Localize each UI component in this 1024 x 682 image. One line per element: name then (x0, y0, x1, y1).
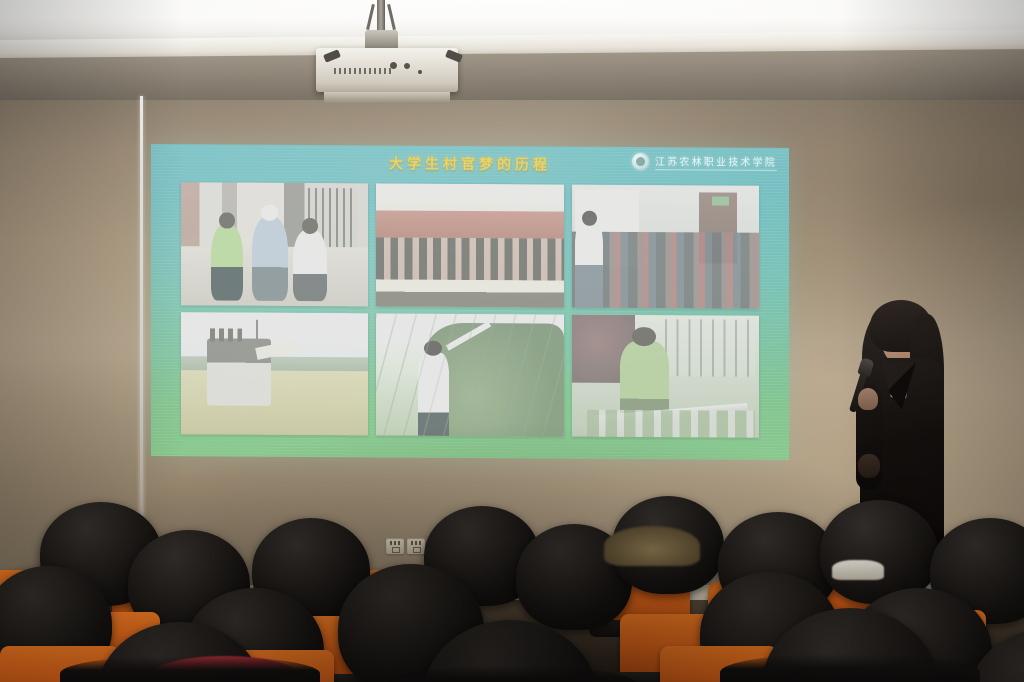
slide-photo-6 (572, 314, 759, 438)
projector-mount-brace (366, 4, 396, 26)
lecture-hall-scene: 大学生村官梦的历程 江苏农林职业技术学院 (0, 0, 1024, 682)
screen-edge-cable (140, 96, 143, 520)
slide-photo-2 (376, 183, 563, 307)
photo4-projection-tint (181, 312, 368, 436)
slide-photo-5 (376, 313, 563, 437)
audience-white-collar (832, 560, 884, 580)
projector-vent-icon (334, 68, 394, 74)
slide-photo-3 (572, 185, 759, 309)
audience-shoulders (720, 654, 980, 682)
university-seal-icon (632, 153, 649, 170)
slide-photo-grid (181, 182, 759, 438)
slide-photo-1 (181, 182, 368, 306)
slide-logo-text: 江苏农林职业技术学院 (655, 153, 777, 171)
audience-fur-hood (604, 526, 700, 566)
speaker-hand-upper (858, 388, 878, 410)
photo3-projection-tint (572, 185, 759, 309)
slide-institution-logo: 江苏农林职业技术学院 (632, 153, 777, 171)
photo2-projection-tint (376, 183, 563, 307)
slide-photo-4 (181, 312, 368, 436)
projector-button-icon (418, 70, 422, 74)
seated-audience (0, 470, 1024, 682)
photo5-projection-tint (376, 313, 563, 437)
projector-indicator-icon (404, 63, 410, 69)
projector-lens-icon (390, 62, 397, 69)
photo6-projection-tint (572, 314, 759, 438)
audience-shoulders (60, 656, 320, 682)
photo1-projection-tint (181, 182, 368, 306)
projection-screen: 大学生村官梦的历程 江苏农林职业技术学院 (151, 144, 789, 460)
